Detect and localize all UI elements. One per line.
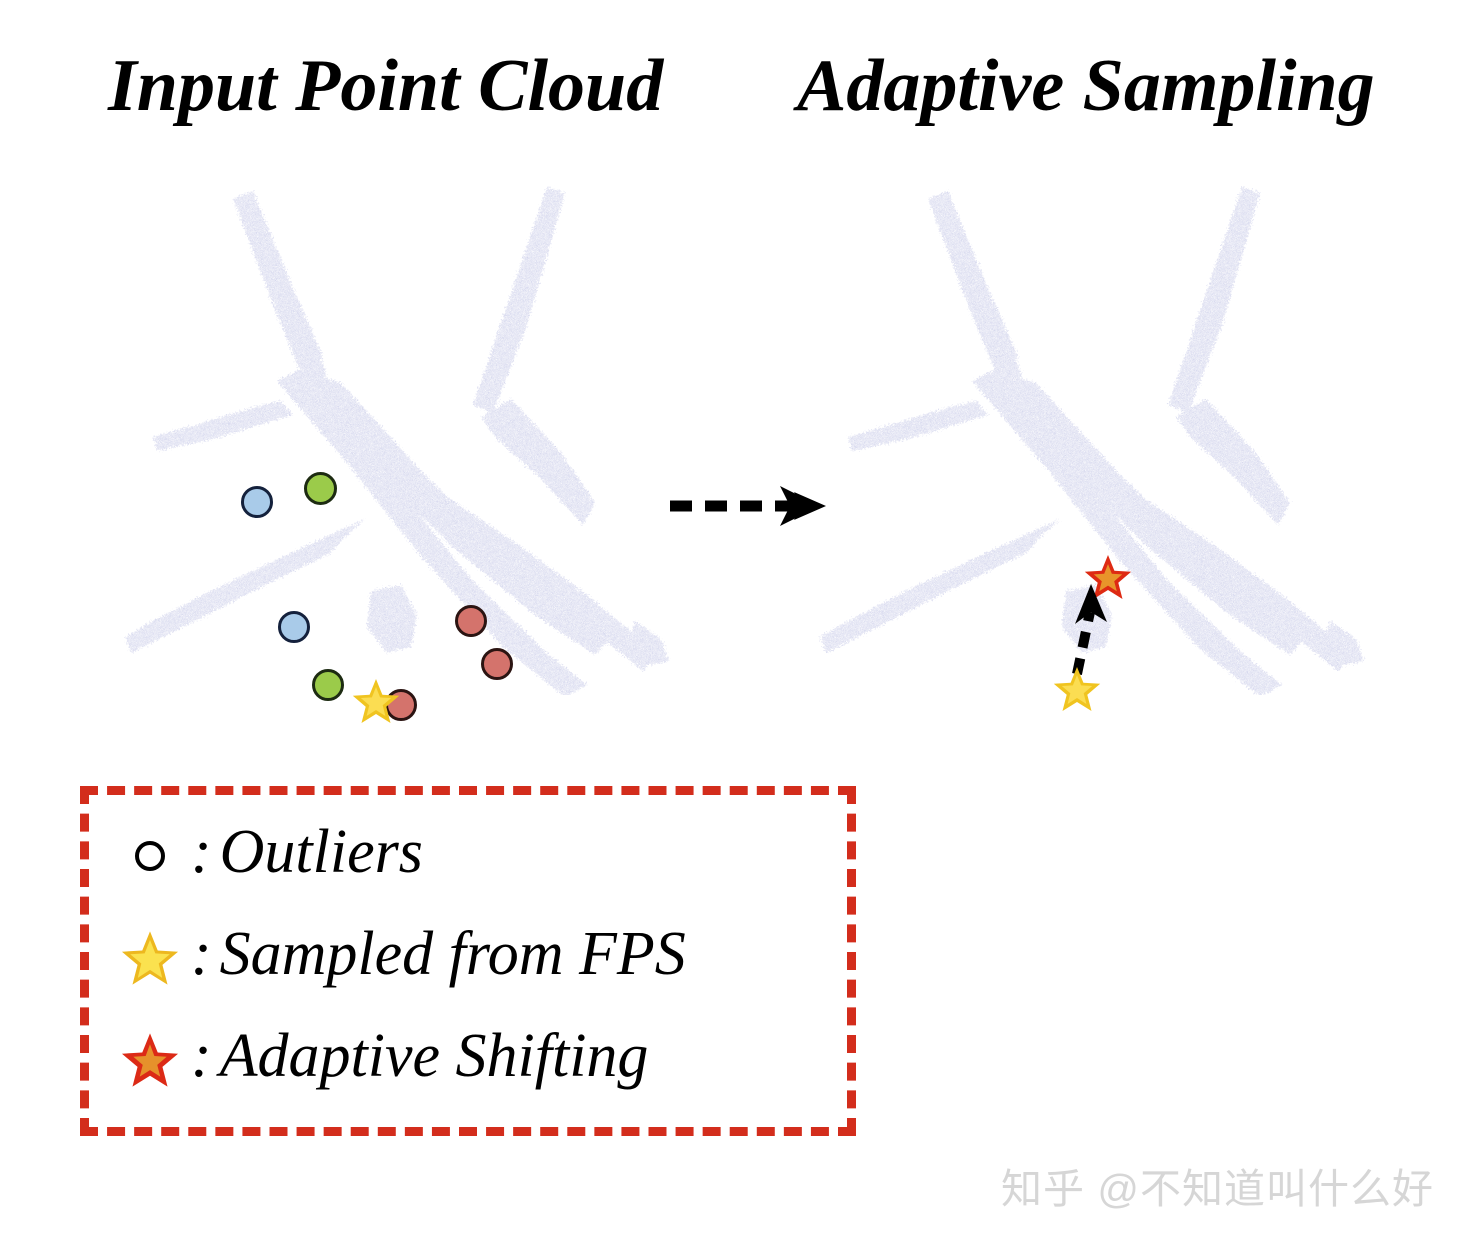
fps-star-right-panel bbox=[1053, 666, 1101, 712]
open-circle-icon bbox=[117, 821, 183, 891]
legend-item-sampled-from-fps: : Sampled from FPS bbox=[117, 923, 686, 993]
legend-label-outliers: Outliers bbox=[220, 821, 423, 883]
outlier-point-green-2 bbox=[312, 669, 344, 701]
outlier-point-red-2 bbox=[481, 648, 513, 680]
legend-box: : Outliers : Sampled from FPS : bbox=[80, 786, 856, 1136]
red-star-icon bbox=[117, 1025, 183, 1095]
outlier-point-red-1 bbox=[455, 605, 487, 637]
outlier-point-blue-1 bbox=[241, 486, 273, 518]
legend-separator-1: : bbox=[191, 923, 212, 985]
figure-canvas: Input Point Cloud Adaptive Sampling bbox=[0, 0, 1478, 1236]
outlier-point-green-1 bbox=[304, 472, 337, 505]
panel-title-adaptive-sampling: Adaptive Sampling bbox=[797, 49, 1375, 123]
legend-separator-0: : bbox=[191, 821, 212, 883]
legend-label-sampled-from-fps: Sampled from FPS bbox=[220, 923, 686, 985]
point-cloud-airplane-left bbox=[95, 185, 695, 695]
legend-label-adaptive-shifting: Adaptive Shifting bbox=[220, 1025, 649, 1087]
legend-item-outliers: : Outliers bbox=[117, 821, 423, 891]
adaptive-shift-dashed-arrow-icon bbox=[1060, 582, 1130, 677]
legend-item-adaptive-shifting: : Adaptive Shifting bbox=[117, 1025, 648, 1095]
fps-star-left-panel bbox=[352, 678, 400, 724]
outlier-point-blue-2 bbox=[278, 611, 310, 643]
zhihu-watermark: 知乎 @不知道叫什么好 bbox=[1001, 1155, 1434, 1215]
yellow-star-icon bbox=[117, 923, 183, 993]
transition-dashed-arrow-icon bbox=[668, 480, 838, 534]
panel-title-input-point-cloud: Input Point Cloud bbox=[108, 49, 663, 123]
legend-separator-2: : bbox=[191, 1025, 212, 1087]
